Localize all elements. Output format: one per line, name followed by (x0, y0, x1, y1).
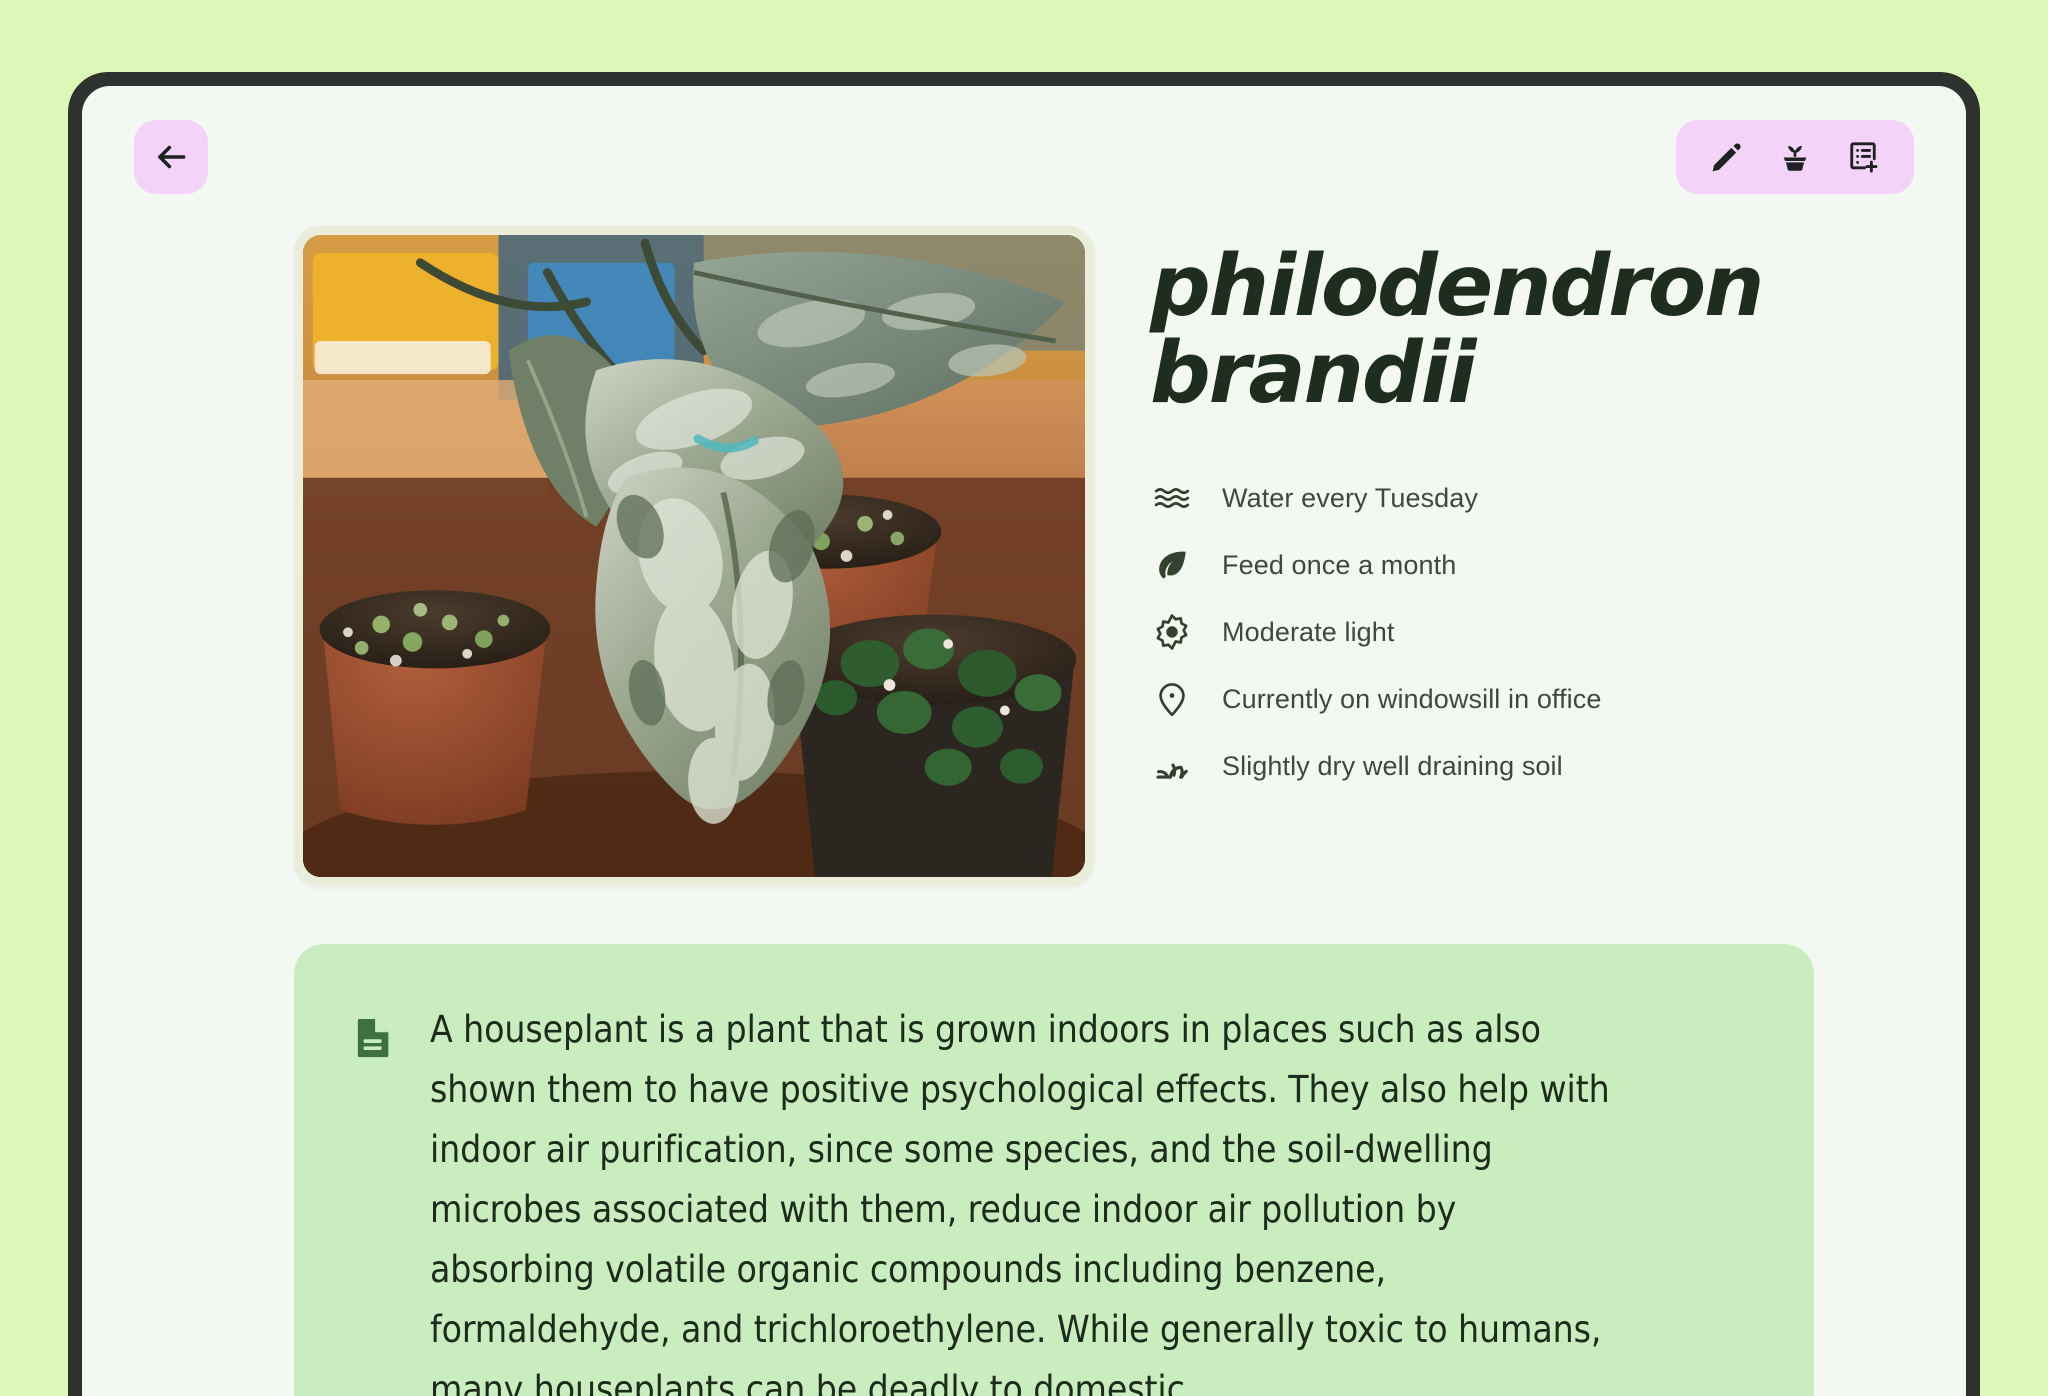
plant-hero: philodendron brandii (134, 226, 1914, 886)
soil-sprout-icon (1150, 744, 1194, 788)
main-content: philodendron brandii (82, 226, 1966, 1396)
pencil-icon (1709, 139, 1745, 175)
app-viewport: philodendron brandii (82, 86, 1966, 1396)
plant-photo-frame (294, 226, 1094, 886)
attribute-row-water: Water every Tuesday (1150, 475, 1814, 521)
leaf-icon (1150, 543, 1194, 587)
attribute-label: Feed once a month (1222, 550, 1456, 581)
top-bar (82, 86, 1966, 226)
plant-title: philodendron brandii (1150, 244, 1814, 417)
attribute-label: Currently on windowsill in office (1222, 684, 1601, 715)
attribute-label: Moderate light (1222, 617, 1395, 648)
sun-icon (1150, 610, 1194, 654)
attribute-label: Water every Tuesday (1222, 483, 1478, 514)
page-root: philodendron brandii (0, 0, 2048, 1396)
attribute-row-feed: Feed once a month (1150, 542, 1814, 588)
device-frame: philodendron brandii (68, 72, 1980, 1396)
back-button[interactable] (134, 120, 208, 194)
plant-attribute-list: Water every Tuesday Feed once a month (1150, 475, 1814, 789)
document-icon (350, 1014, 396, 1060)
add-log-entry-button[interactable] (1834, 128, 1892, 186)
action-toolbar (1676, 120, 1914, 194)
attribute-label: Slightly dry well draining soil (1222, 751, 1563, 782)
description-text: A houseplant is a plant that is grown in… (430, 1000, 1610, 1396)
attribute-row-light: Moderate light (1150, 609, 1814, 655)
edit-plant-button[interactable] (1698, 128, 1756, 186)
attribute-row-soil: Slightly dry well draining soil (1150, 743, 1814, 789)
water-waves-icon (1150, 476, 1194, 520)
arrow-left-icon (152, 138, 190, 176)
location-pin-icon (1150, 677, 1194, 721)
water-plant-button[interactable] (1766, 128, 1824, 186)
description-card: A houseplant is a plant that is grown in… (294, 944, 1814, 1396)
list-add-icon (1845, 139, 1881, 175)
attribute-row-location: Currently on windowsill in office (1150, 676, 1814, 722)
plant-photo[interactable] (303, 235, 1085, 877)
plant-info: philodendron brandii (1150, 226, 1814, 789)
potted-plant-icon (1777, 139, 1813, 175)
